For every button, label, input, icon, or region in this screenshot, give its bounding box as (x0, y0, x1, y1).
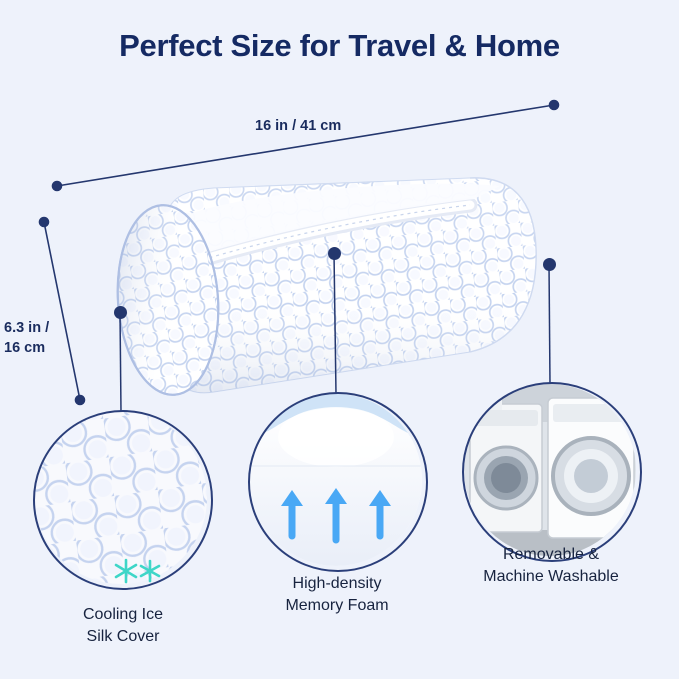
feature-circle-memory-foam (248, 392, 428, 572)
pillow-end-cap (110, 195, 230, 410)
feature-caption-machine-washable-line1: Removable & (503, 546, 599, 563)
feature-caption-cooling-cover-line1: Cooling Ice (83, 606, 163, 623)
callout-dot-wash (543, 258, 556, 271)
pillow-body (110, 170, 550, 410)
feature-circle-machine-washable (462, 382, 642, 562)
page-title: Perfect Size for Travel & Home (0, 28, 679, 64)
callout-dot-foam (328, 247, 341, 260)
length-dimension-label: 16 in / 41 cm (255, 118, 341, 134)
infographic-stage: Perfect Size for Travel & Home (0, 0, 679, 679)
height-dimension-line1: 6.3 in / (4, 320, 49, 336)
feature-caption-machine-washable: Removable & Machine Washable (448, 544, 654, 588)
callout-leader-lines (120, 253, 550, 412)
height-dimension-label: 6.3 in / 16 cm (4, 318, 82, 358)
feature-caption-memory-foam: High-density Memory Foam (242, 573, 432, 617)
feature-caption-cooling-cover: Cooling Ice Silk Cover (31, 604, 215, 648)
height-dimension-line2: 16 cm (4, 340, 45, 356)
callout-dot-cover (114, 306, 127, 319)
feature-circle-cooling-cover (33, 410, 213, 590)
feature-caption-memory-foam-line1: High-density (293, 575, 382, 592)
feature-caption-cooling-cover-line2: Silk Cover (87, 628, 160, 645)
feature-caption-memory-foam-line2: Memory Foam (285, 597, 388, 614)
feature-caption-machine-washable-line2: Machine Washable (483, 568, 618, 585)
dimension-lines (40, 101, 559, 405)
